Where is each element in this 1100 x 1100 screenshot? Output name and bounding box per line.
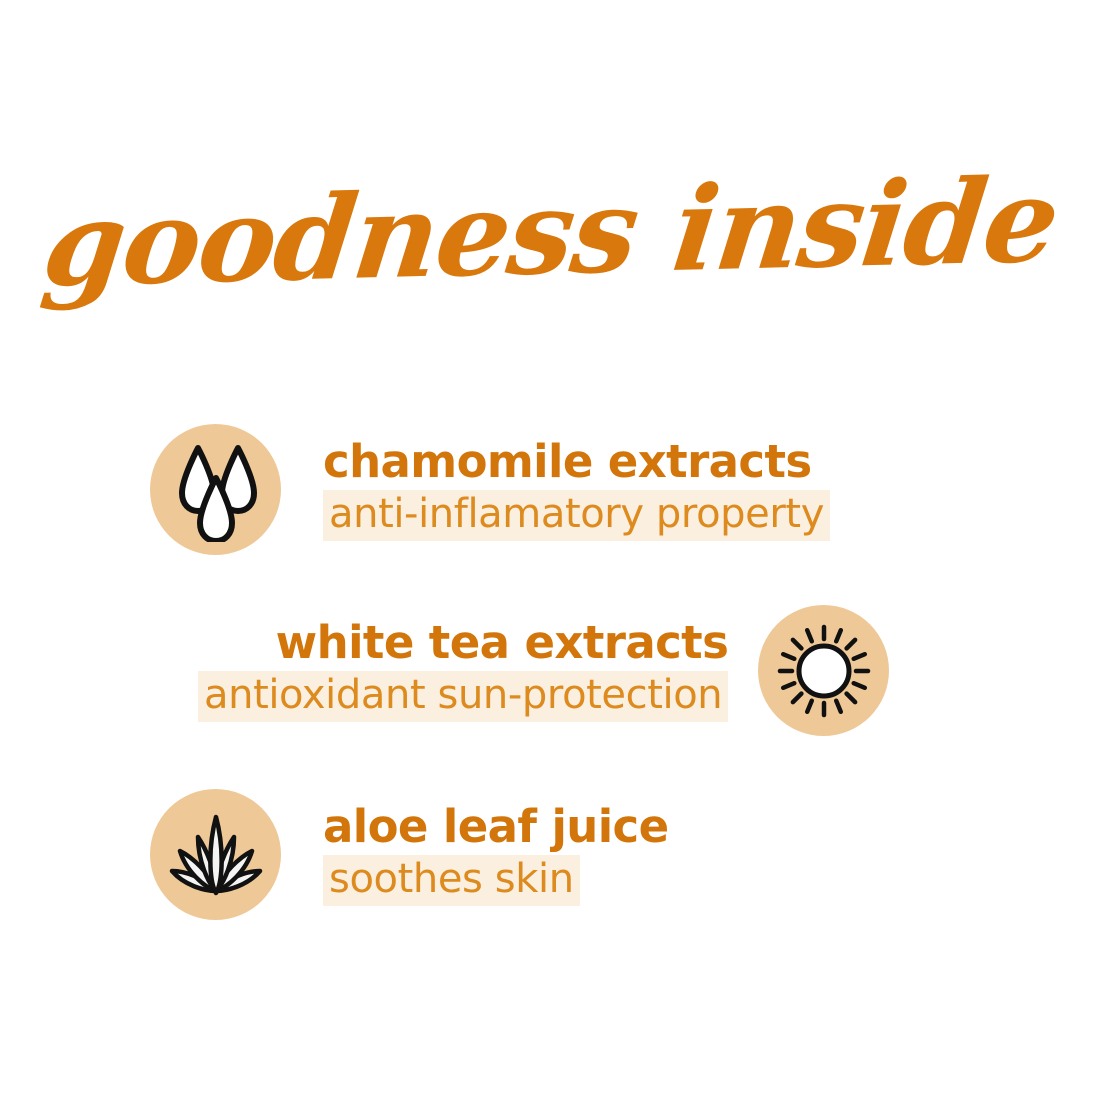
sun-icon [772, 619, 876, 723]
aloe-plant-icon [164, 809, 268, 901]
feature-title: white tea extracts [276, 619, 729, 667]
feature-subtitle: soothes skin [323, 855, 580, 905]
feature-subtitle: anti-inflamatory property [323, 490, 830, 540]
feature-row-aloe: aloe leaf juice soothes skin [150, 789, 669, 920]
feature-title: chamomile extracts [323, 438, 812, 486]
feature-row-chamomile: chamomile extracts anti-inflamatory prop… [150, 424, 830, 555]
feature-subtitle: antioxidant sun-protection [198, 671, 728, 721]
page-title-container: goodness inside [0, 175, 1100, 291]
feature-row-white-tea: white tea extracts antioxidant sun-prote… [198, 605, 889, 736]
feature-text-chamomile: chamomile extracts anti-inflamatory prop… [323, 438, 830, 540]
feature-text-aloe: aloe leaf juice soothes skin [323, 803, 669, 905]
feature-text-white-tea: white tea extracts antioxidant sun-prote… [198, 619, 728, 721]
feature-title: aloe leaf juice [323, 803, 669, 851]
sun-icon-badge [758, 605, 889, 736]
water-drops-icon-badge [150, 424, 281, 555]
aloe-plant-icon-badge [150, 789, 281, 920]
water-drops-icon [168, 438, 264, 542]
page-title: goodness inside [37, 163, 1062, 304]
goodness-inside-poster: goodness inside chamomile extracts anti-… [0, 0, 1100, 1100]
